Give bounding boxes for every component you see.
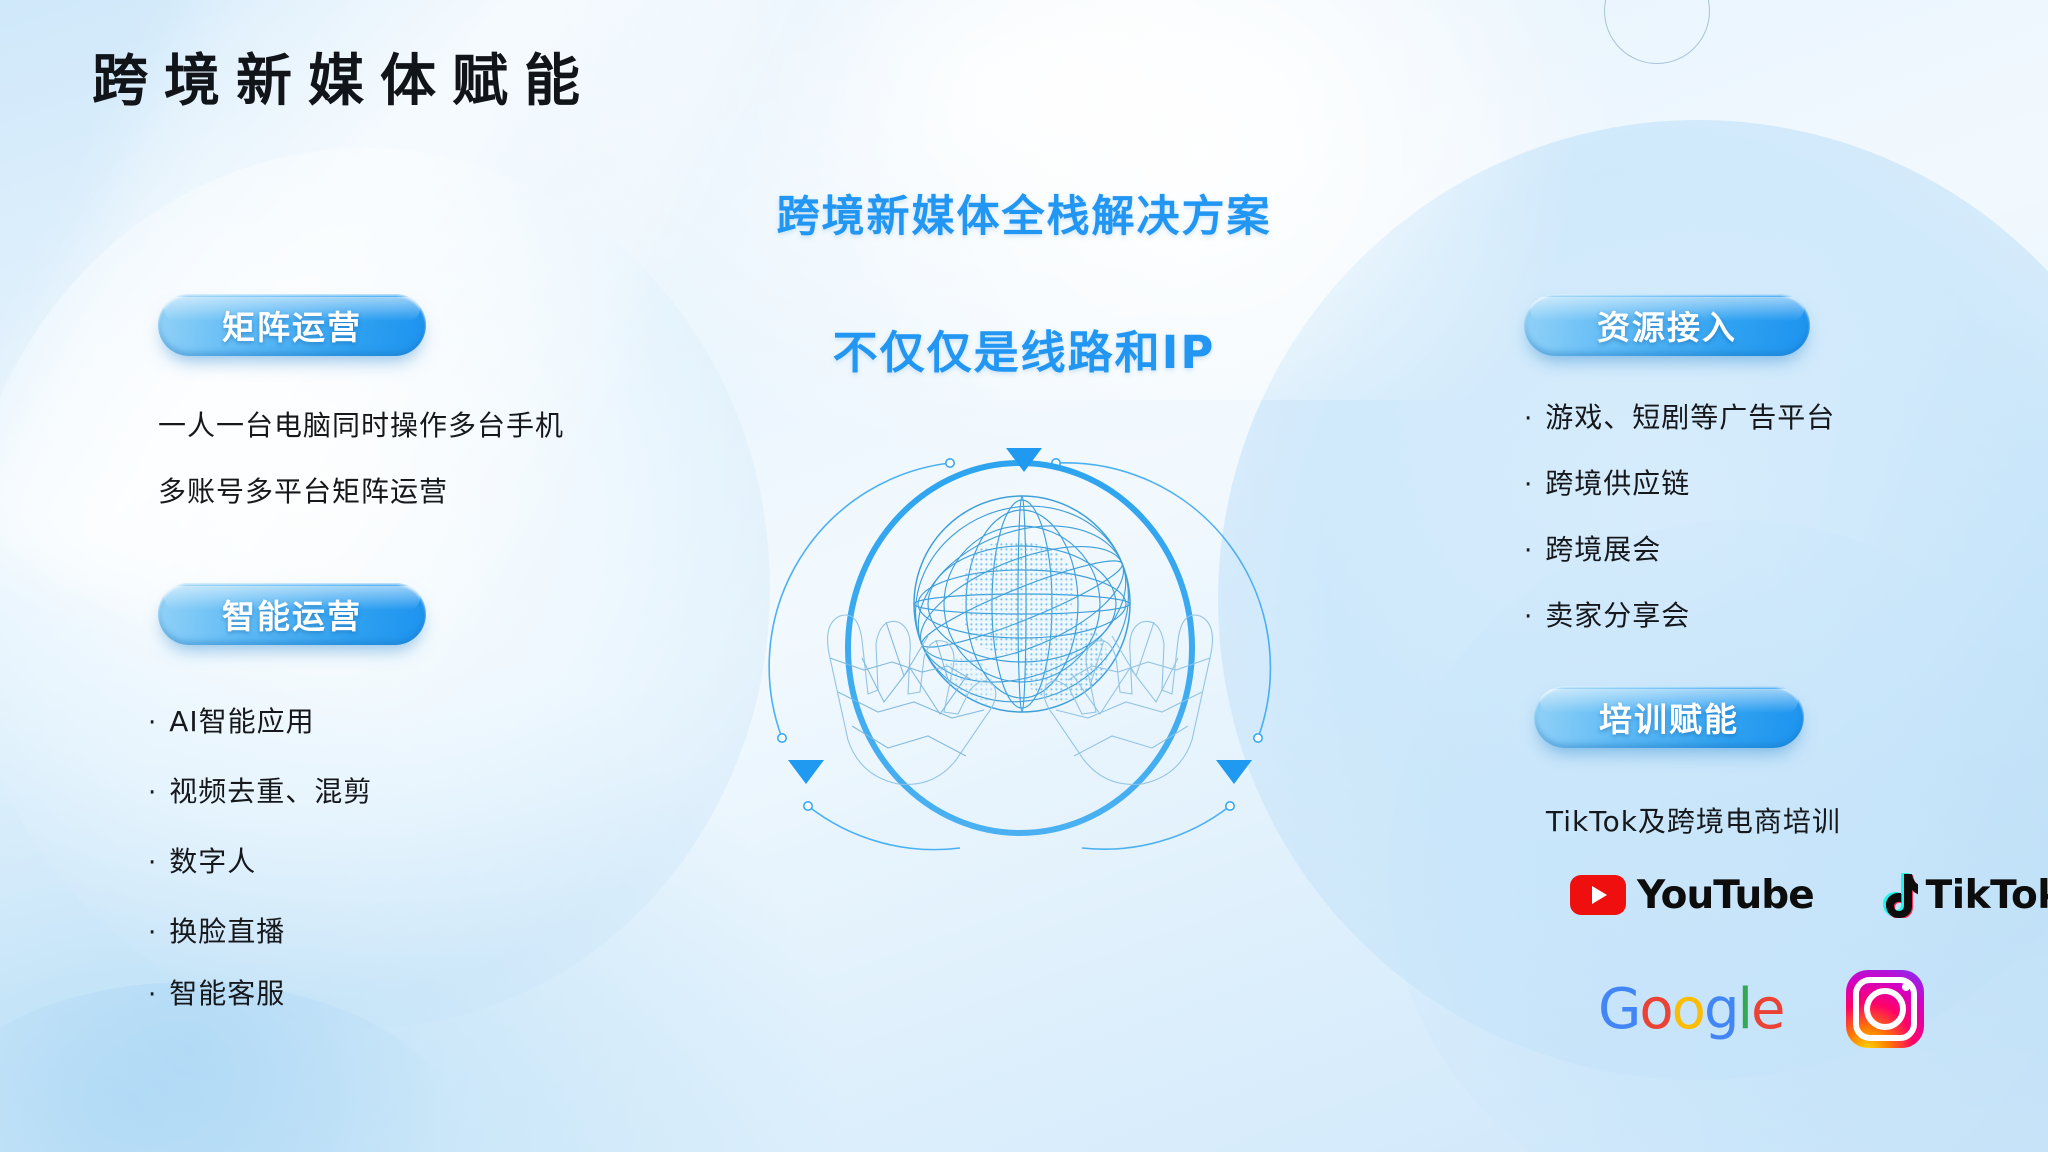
- instagram-dot-icon: [1902, 983, 1910, 991]
- left-paragraph-2: 多账号多平台矩阵运营: [158, 470, 448, 510]
- logo-row-secondary: Google: [1598, 970, 1924, 1048]
- list-item-label: 跨境供应链: [1545, 462, 1690, 502]
- pill-training-empowerment[interactable]: 培训赋能: [1534, 686, 1804, 748]
- globe-in-hands-illustration: [760, 408, 1280, 868]
- list-item: · 跨境展会: [1524, 528, 1661, 568]
- google-letter: e: [1751, 977, 1783, 1042]
- left-paragraph-1: 一人一台电脑同时操作多台手机: [158, 404, 564, 444]
- list-item: · 卖家分享会: [1524, 594, 1690, 634]
- instagram-logo[interactable]: [1846, 970, 1924, 1048]
- bullet-marker-icon: ·: [1524, 406, 1533, 432]
- youtube-play-icon: [1570, 875, 1626, 915]
- center-heading-primary: 跨境新媒体全栈解决方案: [0, 182, 2048, 244]
- list-item-label: AI智能应用: [169, 700, 314, 740]
- google-letter: G: [1598, 977, 1639, 1042]
- pill-resource-access[interactable]: 资源接入: [1524, 294, 1810, 356]
- list-item-label: 游戏、短剧等广告平台: [1545, 396, 1835, 436]
- bullet-marker-icon: ·: [148, 850, 157, 876]
- youtube-logo[interactable]: YouTube: [1570, 873, 1814, 918]
- bullet-marker-icon: ·: [148, 780, 157, 806]
- list-item: · 数字人: [148, 840, 256, 880]
- bullet-marker-icon: ·: [1524, 604, 1533, 630]
- list-item: · AI智能应用: [148, 700, 315, 740]
- google-logo[interactable]: Google: [1598, 977, 1784, 1042]
- tiktok-logo[interactable]: TikTok: [1876, 872, 2048, 918]
- pill-label: 培训赋能: [1599, 693, 1739, 741]
- list-item: · 游戏、短剧等广告平台: [1524, 396, 1835, 436]
- right-paragraph-1: TikTok及跨境电商培训: [1546, 800, 1841, 840]
- youtube-wordmark: YouTube: [1637, 873, 1814, 918]
- bullet-marker-icon: ·: [148, 710, 157, 736]
- list-item-label: 智能客服: [169, 972, 285, 1012]
- bullet-marker-icon: ·: [1524, 538, 1533, 564]
- list-item: · 智能客服: [148, 972, 285, 1012]
- decorative-circle-outline-icon: [1604, 0, 1710, 64]
- bullet-marker-icon: ·: [148, 982, 157, 1008]
- pill-label: 资源接入: [1597, 301, 1737, 349]
- tiktok-wordmark: TikTok: [1926, 873, 2048, 918]
- google-letter: l: [1737, 977, 1751, 1042]
- pill-label: 矩阵运营: [222, 301, 362, 349]
- list-item: · 换脸直播: [148, 910, 285, 950]
- list-item: · 跨境供应链: [1524, 462, 1690, 502]
- list-item-label: 跨境展会: [1545, 528, 1661, 568]
- list-item-label: 卖家分享会: [1545, 594, 1690, 634]
- list-item-label: 换脸直播: [169, 910, 285, 950]
- list-item: · 视频去重、混剪: [148, 770, 372, 810]
- page-title: 跨境新媒体赋能: [92, 36, 596, 117]
- list-item-label: 视频去重、混剪: [169, 770, 372, 810]
- bullet-marker-icon: ·: [1524, 472, 1533, 498]
- pill-smart-operations[interactable]: 智能运营: [158, 583, 426, 645]
- logo-row-primary: YouTube TikTok: [1570, 872, 2048, 918]
- pill-label: 智能运营: [222, 590, 362, 638]
- list-item-label: 数字人: [169, 840, 256, 880]
- google-letter: o: [1672, 977, 1704, 1042]
- bullet-marker-icon: ·: [148, 920, 157, 946]
- google-letter: g: [1704, 977, 1738, 1042]
- pill-matrix-operations[interactable]: 矩阵运营: [158, 294, 426, 356]
- tiktok-note-icon: [1876, 872, 1918, 918]
- slide-canvas: 跨境新媒体赋能 跨境新媒体全栈解决方案 不仅仅是线路和IP 矩阵运营 一人一台电…: [0, 0, 2048, 1152]
- google-letter: o: [1639, 977, 1671, 1042]
